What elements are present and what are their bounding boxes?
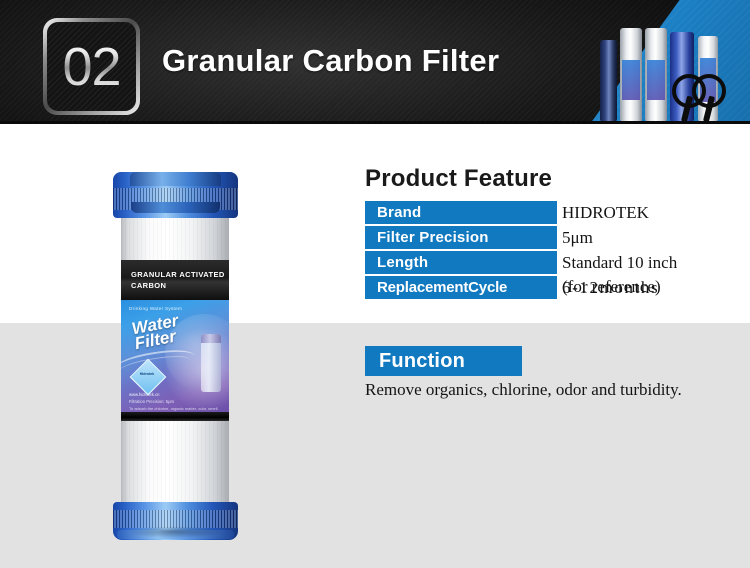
spec-row-brand: Brand HIDROTEK xyxy=(365,201,745,224)
product-feature-heading: Product Feature xyxy=(365,165,552,193)
header-bottom-border xyxy=(0,121,750,124)
hero-label-blue-2 xyxy=(647,60,665,100)
step-number-badge: 02 xyxy=(43,18,140,115)
page-title: Granular Carbon Filter xyxy=(162,43,499,79)
label-brand-text: Water Filter xyxy=(131,313,183,351)
spec-row-replacement-cycle: ReplacementCycle 6-12months xyxy=(365,276,745,299)
function-heading-text: Function xyxy=(365,346,522,376)
black-label-line-1: GRANULAR ACTIVATED xyxy=(131,269,229,280)
cartridge-black-strip xyxy=(121,412,229,421)
cartridge-top-cap xyxy=(113,172,238,218)
spec-reference-note: (for reference) xyxy=(562,277,661,297)
cartridge-blue-label: Drinking Water System Water Filter Hidro… xyxy=(121,300,229,412)
product-info-graphic: 02 Granular Carbon Filter xyxy=(0,0,750,568)
spec-value-length: Standard 10 inch xyxy=(562,251,677,274)
spec-label-replacement-cycle: ReplacementCycle xyxy=(365,276,557,299)
step-number-badge-inner: 02 xyxy=(47,22,136,111)
cartridge-black-label: GRANULAR ACTIVATED CARBON xyxy=(121,260,229,300)
label-precision-text: Filtration Precision: 5μm xyxy=(129,399,174,404)
label-diamond-badge-text: Hidrotek xyxy=(135,372,159,376)
function-heading-box: Function xyxy=(365,346,522,376)
spec-row-length: Length Standard 10 inch xyxy=(365,251,745,274)
product-cartridge-image: GRANULAR ACTIVATED CARBON Drinking Water… xyxy=(113,168,238,540)
cartridge-top-cap-foot xyxy=(131,202,220,213)
cartridge-drop-shadow xyxy=(127,526,223,538)
spec-value-filter-precision: 5μm xyxy=(562,226,593,249)
spec-label-brand: Brand xyxy=(365,201,557,224)
specification-table: Brand HIDROTEK Filter Precision 5μm Leng… xyxy=(365,201,745,301)
label-mini-cartridge-cap xyxy=(201,334,221,343)
label-website-url: www.hidrotek.cn xyxy=(129,392,160,397)
header-banner: 02 Granular Carbon Filter xyxy=(0,0,750,124)
spec-row-filter-precision: Filter Precision 5μm xyxy=(365,226,745,249)
step-number-text: 02 xyxy=(62,40,120,94)
hero-cartridge-membrane xyxy=(600,40,617,122)
cartridge-top-neck xyxy=(130,172,221,186)
hero-label-blue-1 xyxy=(622,60,640,100)
spec-label-filter-precision: Filter Precision xyxy=(365,226,557,249)
black-label-line-2: CARBON xyxy=(131,280,229,291)
hero-product-group-photo xyxy=(598,22,746,122)
function-description: Remove organics, chlorine, odor and turb… xyxy=(365,379,695,400)
spec-value-brand: HIDROTEK xyxy=(562,201,649,224)
spec-label-length: Length xyxy=(365,251,557,274)
